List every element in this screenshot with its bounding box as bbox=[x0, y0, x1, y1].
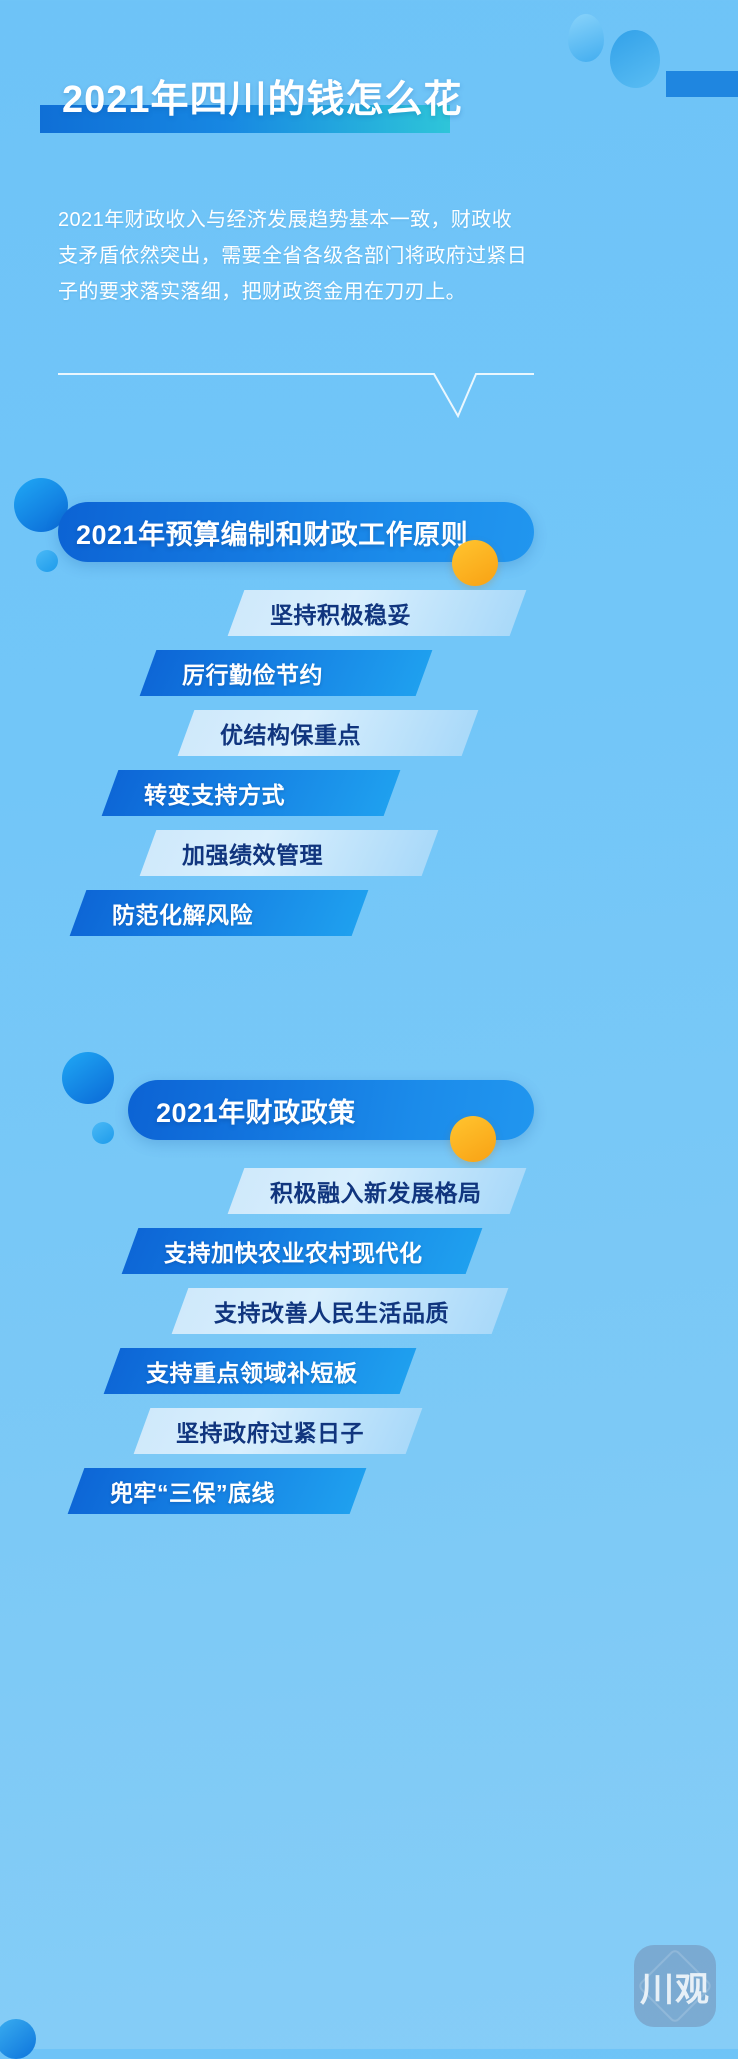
list-item[interactable]: 坚持政府过紧日子 bbox=[134, 1408, 423, 1454]
section-divider bbox=[58, 372, 534, 418]
section-fiscal-policy: 2021年财政政策 积极融入新发展格局 支持加快农业农村现代化 支持改善人民生活… bbox=[0, 1056, 738, 1518]
decor-bubble-bottom bbox=[0, 2019, 36, 2059]
section-banner-wrap: 2021年预算编制和财政工作原则 bbox=[0, 478, 738, 582]
list-item[interactable]: 优结构保重点 bbox=[178, 710, 479, 756]
list-item[interactable]: 支持加快农业农村现代化 bbox=[122, 1228, 483, 1274]
list-item-label: 支持加快农业农村现代化 bbox=[164, 1234, 423, 1268]
list-item[interactable]: 支持改善人民生活品质 bbox=[172, 1288, 509, 1334]
list-item[interactable]: 防范化解风险 bbox=[70, 890, 369, 936]
list-item[interactable]: 兜牢“三保”底线 bbox=[68, 1468, 367, 1514]
list-item-label: 转变支持方式 bbox=[144, 776, 285, 810]
decor-circle-blue-small bbox=[92, 1122, 114, 1144]
page-header: 2021年四川的钱怎么花 bbox=[0, 60, 738, 155]
list-item[interactable]: 加强绩效管理 bbox=[140, 830, 439, 876]
section-heading-label: 2021年预算编制和财政工作原则 bbox=[58, 513, 468, 552]
list-item[interactable]: 厉行勤俭节约 bbox=[140, 650, 433, 696]
list-item[interactable]: 积极融入新发展格局 bbox=[228, 1168, 527, 1214]
decor-circle-blue-small bbox=[36, 550, 58, 572]
decor-circle-blue-large bbox=[62, 1052, 114, 1104]
principle-list: 坚持积极稳妥 厉行勤俭节约 优结构保重点 转变支持方式 加强绩效管理 防范化解风… bbox=[0, 590, 738, 940]
intro-paragraph: 2021年财政收入与经济发展趋势基本一致，财政收支矛盾依然突出，需要全省各级各部… bbox=[58, 202, 528, 310]
list-item-label: 支持重点领域补短板 bbox=[146, 1354, 358, 1388]
list-item-label: 加强绩效管理 bbox=[182, 836, 323, 870]
decor-circle-orange bbox=[452, 540, 498, 586]
list-item[interactable]: 坚持积极稳妥 bbox=[228, 590, 527, 636]
list-item-label: 坚持政府过紧日子 bbox=[176, 1414, 364, 1448]
policy-list: 积极融入新发展格局 支持加快农业农村现代化 支持改善人民生活品质 支持重点领域补… bbox=[0, 1168, 738, 1518]
list-item-label: 优结构保重点 bbox=[220, 716, 361, 750]
list-item-label: 坚持积极稳妥 bbox=[270, 596, 411, 630]
list-item-label: 防范化解风险 bbox=[112, 896, 253, 930]
list-item-label: 积极融入新发展格局 bbox=[270, 1174, 482, 1208]
watermark-logo: 川观 bbox=[634, 1945, 716, 2027]
decor-circle-orange bbox=[450, 1116, 496, 1162]
list-item-label: 支持改善人民生活品质 bbox=[214, 1294, 449, 1328]
section-banner-wrap: 2021年财政政策 bbox=[0, 1056, 738, 1160]
list-item[interactable]: 转变支持方式 bbox=[102, 770, 401, 816]
section-heading-label: 2021年财政政策 bbox=[128, 1091, 356, 1130]
page-title: 2021年四川的钱怎么花 bbox=[62, 68, 702, 123]
section-budget-principles: 2021年预算编制和财政工作原则 坚持积极稳妥 厉行勤俭节约 优结构保重点 转变… bbox=[0, 478, 738, 940]
watermark-diamond-icon bbox=[637, 1948, 713, 2024]
list-item-label: 厉行勤俭节约 bbox=[182, 656, 323, 690]
list-item-label: 兜牢“三保”底线 bbox=[110, 1474, 275, 1508]
list-item[interactable]: 支持重点领域补短板 bbox=[104, 1348, 417, 1394]
decor-bubble-top-1 bbox=[568, 14, 604, 62]
